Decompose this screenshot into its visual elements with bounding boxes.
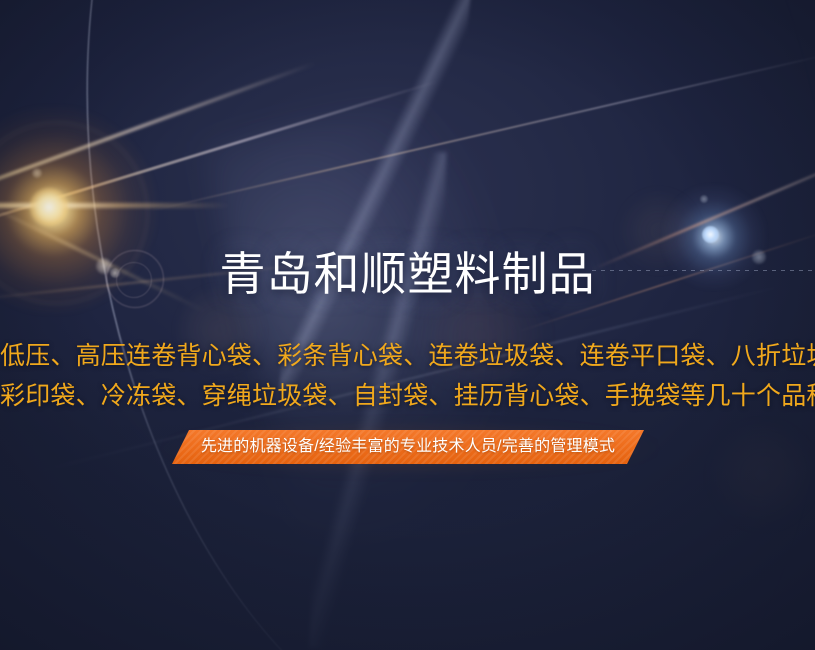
product-list: 低压、高压连卷背心袋、彩条背心袋、连卷垃圾袋、连卷平口袋、八折垃圾袋、 彩印袋、… bbox=[0, 336, 815, 416]
product-list-line-1: 低压、高压连卷背心袋、彩条背心袋、连卷垃圾袋、连卷平口袋、八折垃圾袋、 bbox=[0, 336, 815, 376]
page-title: 青岛和顺塑料制品 bbox=[0, 246, 815, 302]
promo-banner: 青岛和顺塑料制品 低压、高压连卷背心袋、彩条背心袋、连卷垃圾袋、连卷平口袋、八折… bbox=[0, 0, 815, 650]
ribbon-label: 先进的机器设备/经验丰富的专业技术人员/完善的管理模式 bbox=[172, 430, 644, 464]
feature-ribbon: 先进的机器设备/经验丰富的专业技术人员/完善的管理模式 bbox=[172, 430, 644, 464]
product-list-line-2: 彩印袋、冷冻袋、穿绳垃圾袋、自封袋、挂历背心袋、手挽袋等几十个品种 bbox=[0, 376, 815, 416]
banner-content: 青岛和顺塑料制品 低压、高压连卷背心袋、彩条背心袋、连卷垃圾袋、连卷平口袋、八折… bbox=[0, 0, 815, 650]
